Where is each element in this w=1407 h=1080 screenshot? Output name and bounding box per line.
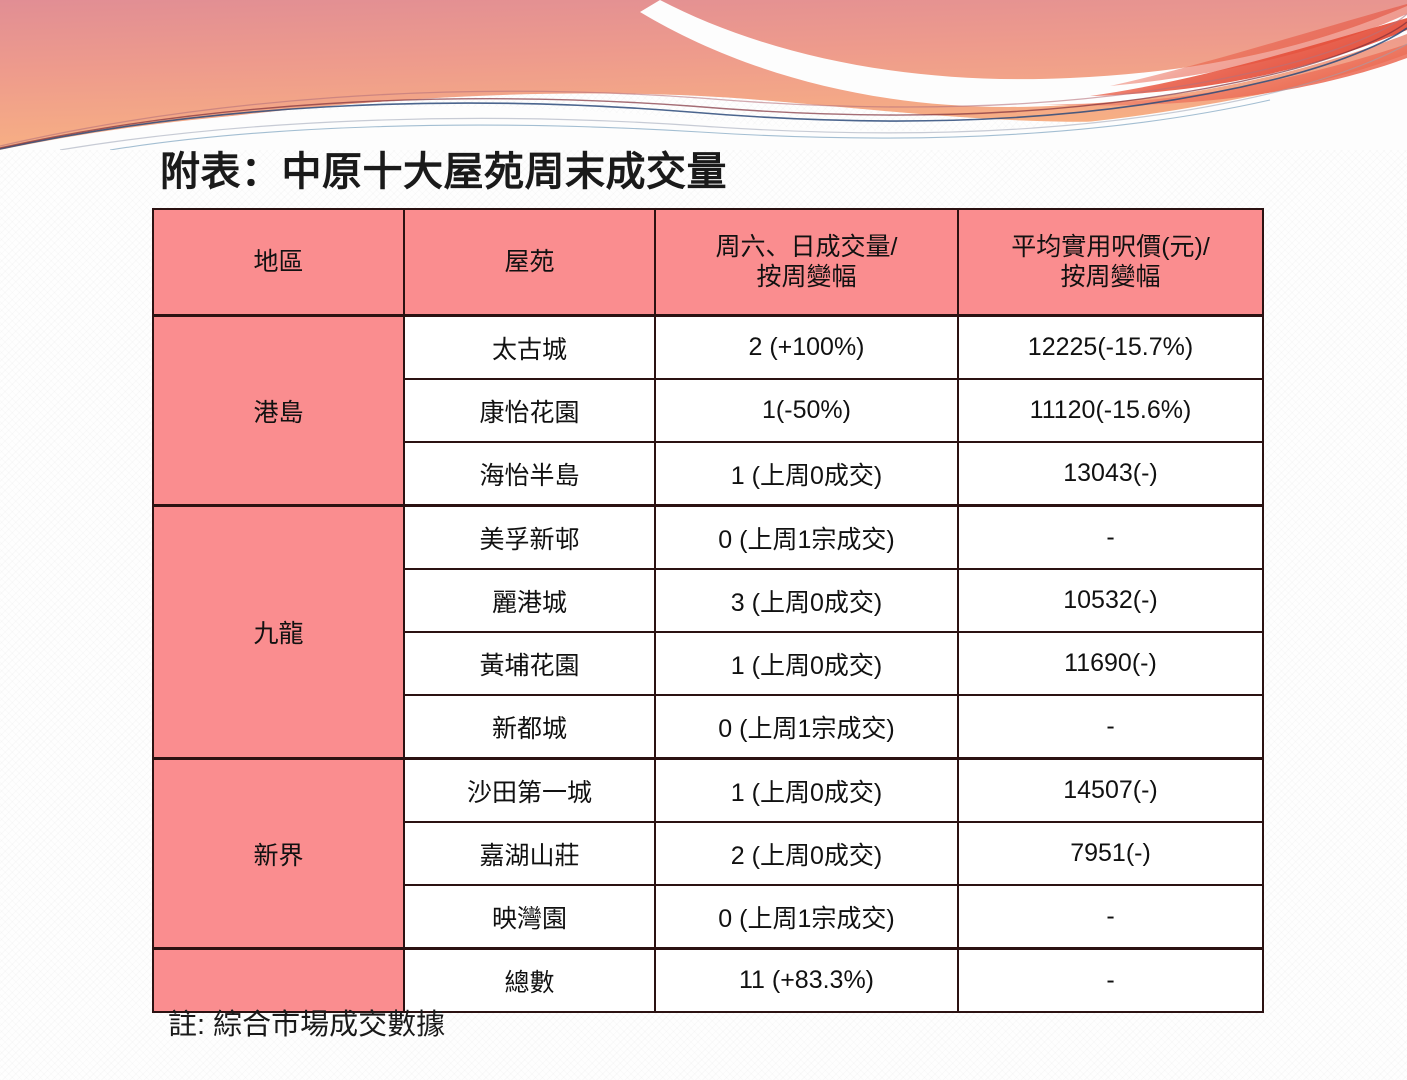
estate-name: 太古城	[404, 316, 655, 380]
volume-value: 2 (上周0成交)	[655, 822, 958, 885]
estate-name: 康怡花園	[404, 379, 655, 442]
price-value: -	[958, 885, 1263, 949]
banner-wave-graphic	[0, 0, 1407, 150]
region-cell-new-territories: 新界	[153, 759, 404, 949]
decorative-banner	[0, 0, 1407, 150]
volume-value: 0 (上周1宗成交)	[655, 506, 958, 570]
column-header-region: 地區	[153, 209, 404, 316]
estate-name: 沙田第一城	[404, 759, 655, 823]
volume-value: 2 (+100%)	[655, 316, 958, 380]
price-value: 11690(-)	[958, 632, 1263, 695]
column-header-volume-line2: 按周變幅	[656, 262, 957, 293]
column-header-price-line1: 平均實用呎價(元)/	[959, 232, 1262, 263]
column-header-price-line2: 按周變幅	[959, 262, 1262, 293]
region-cell-hong-kong-island: 港島	[153, 316, 404, 506]
volume-value: 0 (上周1宗成交)	[655, 695, 958, 759]
estate-name: 海怡半島	[404, 442, 655, 506]
table-header-row: 地區 屋苑 周六、日成交量/ 按周變幅 平均實用呎價(元)/ 按周變幅	[153, 209, 1263, 316]
region-cell-kowloon: 九龍	[153, 506, 404, 759]
price-value: 14507(-)	[958, 759, 1263, 823]
price-value: 10532(-)	[958, 569, 1263, 632]
table-body: 港島 太古城 2 (+100%) 12225(-15.7%) 康怡花園 1(-5…	[153, 316, 1263, 1013]
estate-name: 黃埔花園	[404, 632, 655, 695]
total-price-value: -	[958, 949, 1263, 1013]
price-value: -	[958, 506, 1263, 570]
table-header: 地區 屋苑 周六、日成交量/ 按周變幅 平均實用呎價(元)/ 按周變幅	[153, 209, 1263, 316]
price-value: 11120(-15.6%)	[958, 379, 1263, 442]
table-row: 新界 沙田第一城 1 (上周0成交) 14507(-)	[153, 759, 1263, 823]
column-header-volume-line1: 周六、日成交量/	[656, 232, 957, 263]
estate-name: 麗港城	[404, 569, 655, 632]
footnote: 註: 綜合市場成交數據	[168, 1001, 445, 1043]
volume-value: 1 (上周0成交)	[655, 759, 958, 823]
estate-name: 嘉湖山莊	[404, 822, 655, 885]
price-value: -	[958, 695, 1263, 759]
transaction-table: 地區 屋苑 周六、日成交量/ 按周變幅 平均實用呎價(元)/ 按周變幅 港島 太…	[152, 208, 1264, 1013]
price-value: 7951(-)	[958, 822, 1263, 885]
volume-value: 3 (上周0成交)	[655, 569, 958, 632]
volume-value: 1 (上周0成交)	[655, 632, 958, 695]
total-volume-value: 11 (+83.3%)	[655, 949, 958, 1013]
column-header-estate: 屋苑	[404, 209, 655, 316]
volume-value: 0 (上周1宗成交)	[655, 885, 958, 949]
estate-name: 映灣園	[404, 885, 655, 949]
page-title: 附表：中原十大屋苑周末成交量	[160, 139, 727, 197]
table-row: 港島 太古城 2 (+100%) 12225(-15.7%)	[153, 316, 1263, 380]
volume-value: 1 (上周0成交)	[655, 442, 958, 506]
price-value: 12225(-15.7%)	[958, 316, 1263, 380]
transaction-table-container: 地區 屋苑 周六、日成交量/ 按周變幅 平均實用呎價(元)/ 按周變幅 港島 太…	[152, 208, 1262, 1013]
price-value: 13043(-)	[958, 442, 1263, 506]
table-row: 九龍 美孚新邨 0 (上周1宗成交) -	[153, 506, 1263, 570]
column-header-volume: 周六、日成交量/ 按周變幅	[655, 209, 958, 316]
column-header-price: 平均實用呎價(元)/ 按周變幅	[958, 209, 1263, 316]
estate-name: 美孚新邨	[404, 506, 655, 570]
volume-value: 1(-50%)	[655, 379, 958, 442]
estate-name: 新都城	[404, 695, 655, 759]
